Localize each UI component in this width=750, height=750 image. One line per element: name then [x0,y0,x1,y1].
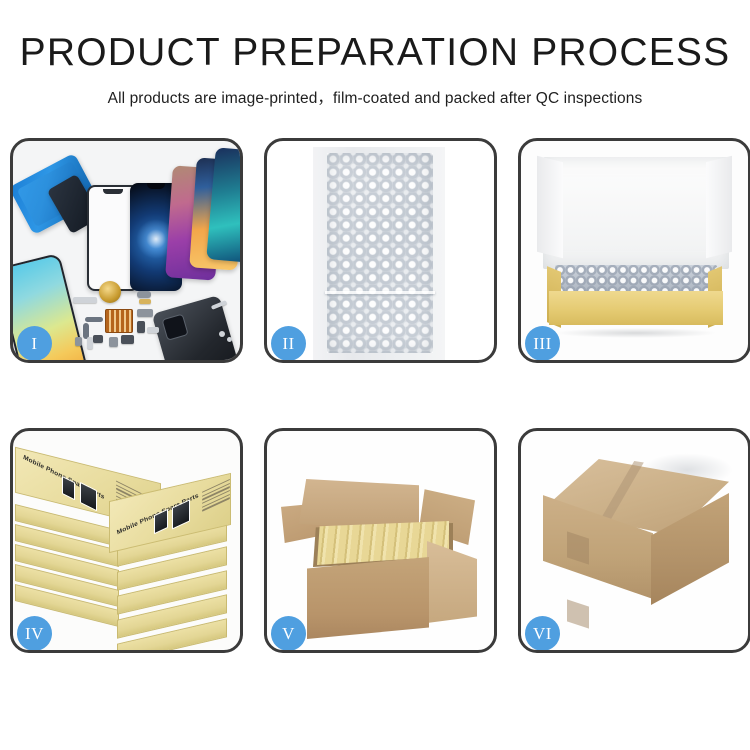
carton-tape-patch-icon [567,599,589,628]
phone-back-housing-icon [152,295,240,360]
stacked-retail-boxes-image: Mobile Phone Spare Parts Mobile Phone Sp… [13,431,240,650]
screw-icon [219,331,225,337]
wrap-seam-line [325,291,435,294]
sealed-carton-image [521,431,748,650]
step-panel-4-stacked-boxes[interactable]: Mobile Phone Spare Parts Mobile Phone Sp… [10,428,243,653]
open-carton-image [267,431,494,650]
box-front-panel [549,291,723,325]
carton-side-panel [427,541,477,623]
step-panel-1-product-assortment[interactable]: I [10,138,243,363]
screw-icon [227,337,232,342]
retail-box-spec-lines [202,479,230,512]
page-title: PRODUCT PREPARATION PROCESS [0,32,750,75]
step-badge-1: I [17,326,52,361]
spare-part-icon [87,337,93,349]
screen-thumbnail-icon [80,482,97,511]
spare-part-icon [75,337,82,346]
page-subtitle: All products are image-printed，film-coat… [0,86,750,108]
product-preparation-infographic: PRODUCT PREPARATION PROCESS All products… [0,0,750,750]
spare-part-icon [93,335,103,343]
bubble-wrap-image [267,141,494,360]
spare-part-icon [121,335,134,344]
spare-part-icon [137,291,151,298]
flex-cable-icon [85,317,103,322]
step-panel-6-sealed-carton[interactable]: VI [518,428,750,653]
inner-box-image [521,141,748,360]
bubble-wrap-icon [327,153,433,353]
process-steps-grid: I II III [10,138,740,738]
step-badge-2: II [271,326,306,361]
step-badge-3: III [525,326,560,361]
step-badge-4: IV [17,616,52,651]
page-header: PRODUCT PREPARATION PROCESS All products… [0,0,750,108]
box-lid-left [537,156,563,258]
carton-front-panel [307,557,429,639]
gold-coil-part-icon [99,281,121,303]
box-back-panel [543,157,729,269]
spare-part-icon [109,337,118,347]
spare-part-icon [147,327,159,333]
box-lid-right [706,156,732,258]
step-panel-2-bubble-wrap[interactable]: II [264,138,497,363]
box-drop-shadow [555,328,717,338]
spare-part-icon [73,297,97,303]
spare-part-icon [137,309,153,317]
step-badge-5: V [271,616,306,651]
spare-part-icon [139,299,151,304]
spare-part-icon [137,321,145,333]
step-panel-5-open-carton[interactable]: V [264,428,497,653]
step-panel-3-inner-box[interactable]: III [518,138,750,363]
copper-grid-chip-icon [105,309,133,333]
product-assortment-image [13,141,240,360]
step-badge-6: VI [525,616,560,651]
